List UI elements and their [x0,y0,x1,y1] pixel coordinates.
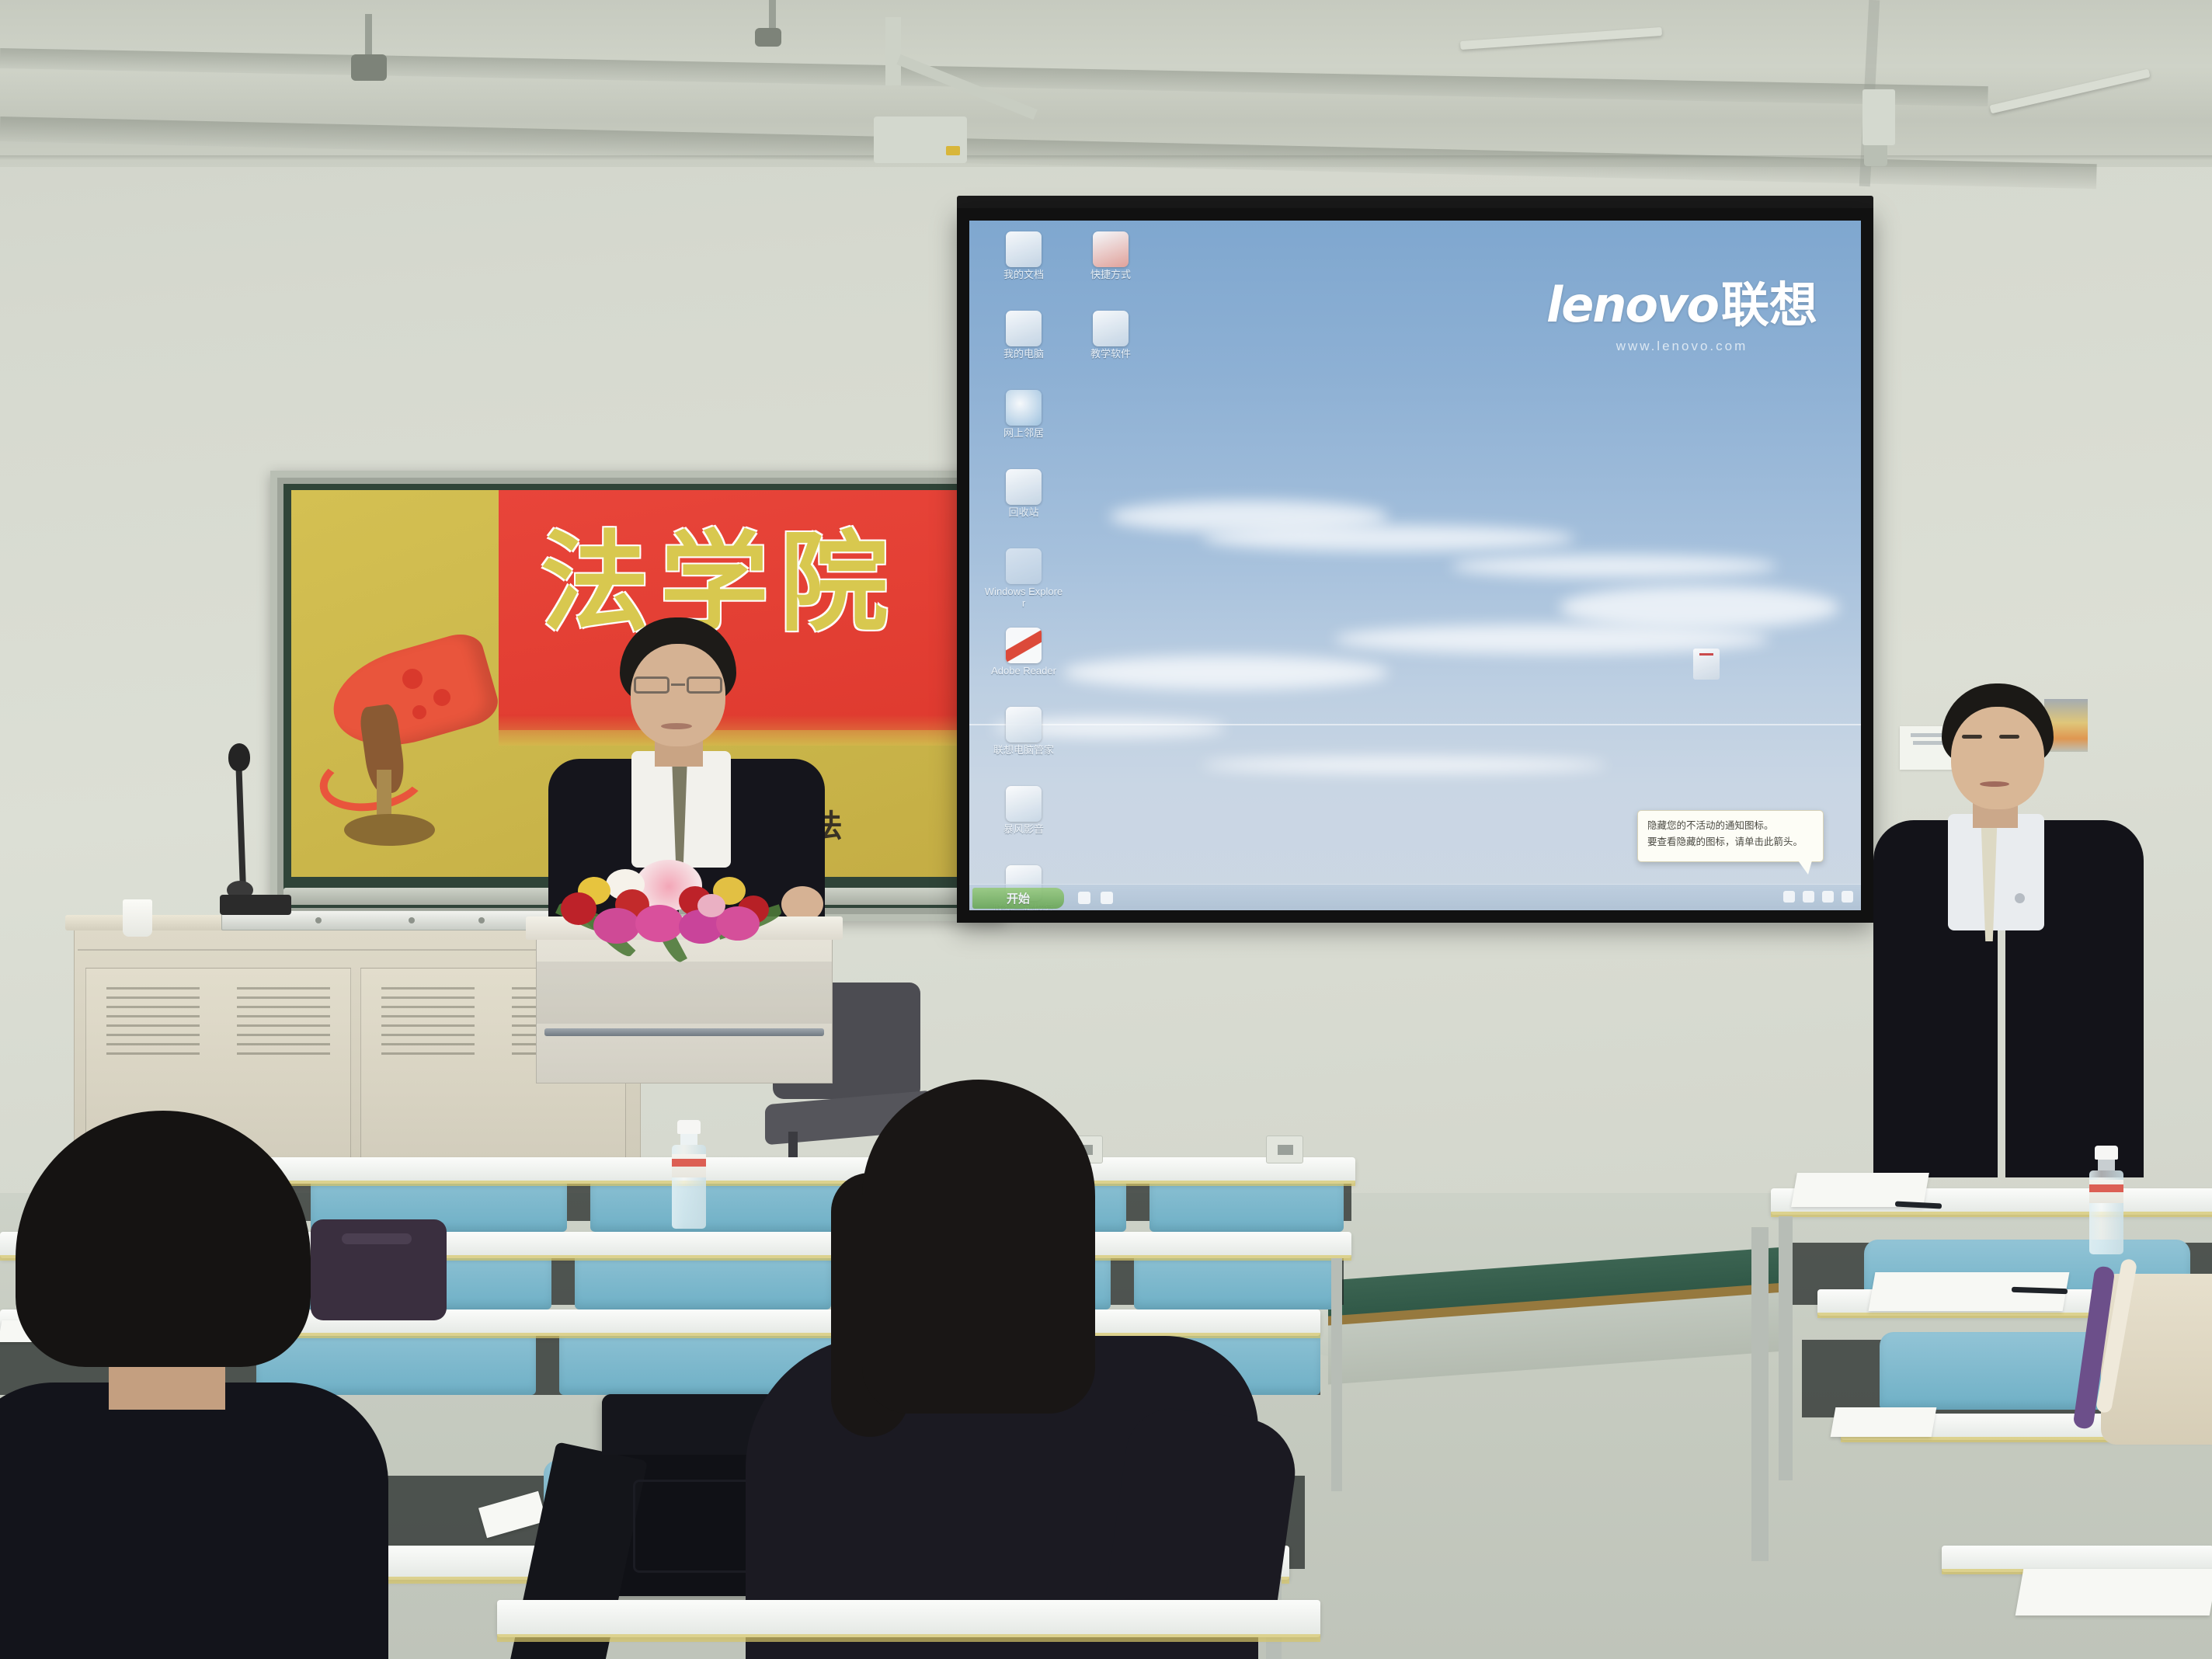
spotlight-icon [755,28,781,47]
folder-icon [1006,231,1042,267]
quick-launch-bar[interactable] [1078,892,1113,904]
show-desktop-icon[interactable] [1078,892,1090,904]
water-bottle [672,1120,706,1229]
flower-orchid [593,908,640,944]
desktop-icon[interactable]: 我的文档 [980,231,1067,308]
desktop-icon[interactable]: 我的电脑 [980,311,1067,387]
ventilation-slats [381,987,475,1062]
eye [1999,735,2019,739]
wall-mounted-box [1862,89,1895,145]
volume-icon[interactable] [1803,891,1814,903]
desk-leg [1751,1227,1769,1561]
drawer-knob [409,917,415,923]
mouth [661,723,692,729]
shortcut-icon [1093,231,1129,267]
projector-housing [874,117,967,163]
cloud [1451,555,1777,578]
face [1951,707,2044,809]
audience-member-left [0,1111,342,1659]
start-button[interactable]: 开始 [972,888,1064,909]
cloud [1560,586,1839,629]
desktop-icon-label: 联想电脑管家 [980,745,1067,756]
lenovo-chinese-name: 联想 [1721,276,1817,333]
ventilation-slats [106,987,200,1062]
media-player-icon [1006,786,1042,822]
lenovo-wordmark: lenovo [1546,276,1718,333]
lapel-pin [2015,893,2025,903]
megaphone-cone [322,628,503,762]
ime-icon[interactable] [1783,891,1795,903]
eye [1962,735,1982,739]
projector-led [946,146,960,155]
flower-arrangement [561,858,794,951]
arm [1106,1403,1303,1619]
desktop-icon-label: 教学软件 [1067,349,1154,360]
desk-leg [1331,1258,1342,1491]
glasses-icon [632,676,724,695]
lenovo-url: www.lenovo.com [1546,339,1817,354]
projector-mount-post [885,17,901,85]
megaphone-dot [402,669,423,689]
bottle-neck [2098,1160,2115,1170]
desktop-icon[interactable]: 网上邻居 [980,390,1067,466]
desktop-icon-label: 我的文档 [980,270,1067,281]
cloud [1202,756,1606,774]
desktop-icon[interactable]: 暴风影音 [980,786,1067,862]
bottle-label [672,1154,706,1177]
drawer-knob [315,917,322,923]
bottle-label [2089,1180,2123,1203]
desk-edge [1771,1212,2212,1217]
desktop-icon-label: Windows Explorer [980,586,1067,609]
balloon-line-2: 要查看隐藏的图标，请单击此箭头。 [1647,836,1814,850]
balloon-tail [1798,861,1812,875]
network-icon[interactable] [1822,891,1834,903]
desktop-icon-column-1: 我的文档 我的电脑 网上邻居 回收站 [980,228,1067,910]
projection-screen[interactable]: lenovo联想 www.lenovo.com 我的文档 我的电脑 [957,208,1873,923]
desktop-icon-label: 我的电脑 [980,349,1067,360]
papers [2015,1569,2212,1616]
flower-orchid [635,905,683,942]
stage-platform [1328,1264,1786,1357]
desk-leg [1779,1216,1793,1480]
face [631,644,725,746]
bottle-neck [680,1134,697,1145]
hair [862,1080,1095,1414]
desktop-icon-label: 快捷方式 [1067,270,1154,281]
water-bottle [2089,1146,2123,1254]
microphone-base [220,895,291,915]
shield-icon[interactable] [1842,891,1853,903]
bottle-cap [2095,1146,2118,1160]
torso [0,1382,388,1659]
lectern-shadow [537,962,832,1024]
computer-icon [1006,311,1042,346]
desk-top [497,1600,1320,1637]
mouth [1980,781,2009,787]
desktop-icon-label: 回收站 [980,507,1067,519]
desktop-icon-label: 网上邻居 [980,428,1067,440]
desk-top [1942,1546,2212,1572]
megaphone-icon [319,645,527,846]
desktop-icon[interactable]: 联想电脑管家 [980,707,1067,783]
desktop-icon[interactable]: Adobe Reader [980,628,1067,704]
desk-edge [497,1634,1320,1642]
wallpaper-horizon [969,724,1861,725]
desktop-shortcut-icon[interactable] [1693,649,1720,680]
microphone-icon [228,743,250,771]
drawer-knob [478,917,485,923]
balloon-line-1: 隐藏您的不活动的通知图标。 [1647,819,1814,833]
papers [1831,1407,1937,1437]
desktop-icon[interactable]: 回收站 [980,469,1067,545]
desktop-icon[interactable]: 教学软件 [1067,311,1154,387]
taskbar[interactable]: 开始 [969,884,1861,910]
app-icon [1093,311,1129,346]
megaphone-dot [433,689,450,706]
recycle-bin-icon [1006,469,1042,505]
ie-icon[interactable] [1101,892,1113,904]
desktop-icon[interactable]: 快捷方式 [1067,231,1154,308]
adobe-reader-icon [1006,628,1042,663]
megaphone-base [344,814,436,846]
explorer-icon [1006,548,1042,584]
flower-pink [697,894,725,917]
cloud [1202,525,1575,551]
ventilation-slats [237,987,330,1062]
spotlight-icon [351,54,387,81]
handbag [2101,1274,2212,1445]
hair [16,1111,311,1367]
desk-row [497,1600,1320,1643]
shortcut-marker [1699,653,1713,656]
classroom-photo: 法学院 中国政法 lenovo联想 www.lenovo.com [0,0,2212,1659]
lenovo-logo: lenovo联想 [1546,266,1817,336]
network-icon [1006,390,1042,426]
audience-member-center [730,1080,1289,1659]
lectern-rail [544,1028,824,1036]
system-tray[interactable] [1783,891,1853,903]
windows-desktop[interactable]: lenovo联想 www.lenovo.com 我的文档 我的电脑 [969,221,1861,910]
bag-handle [342,1233,412,1244]
standing-host [1873,683,2153,1212]
bottle-body [637,1142,671,1226]
bottle-cap [677,1120,701,1134]
lenovo-watermark: lenovo联想 www.lenovo.com [1546,266,1817,354]
lenovo-tool-icon [1006,707,1042,743]
cloud [1063,656,1389,690]
paper-cup [123,899,152,937]
desktop-icon[interactable]: Windows Explorer [980,548,1067,624]
flower-red [561,892,596,925]
megaphone-dot [412,705,426,719]
desktop-icon-label: 暴风影音 [980,824,1067,836]
desktop-icon-column-2: 快捷方式 教学软件 [1067,228,1154,388]
desktop-icon-label: Adobe Reader [980,666,1067,677]
notification-balloon[interactable]: 隐藏您的不活动的通知图标。 要查看隐藏的图标，请单击此箭头。 [1637,810,1824,863]
